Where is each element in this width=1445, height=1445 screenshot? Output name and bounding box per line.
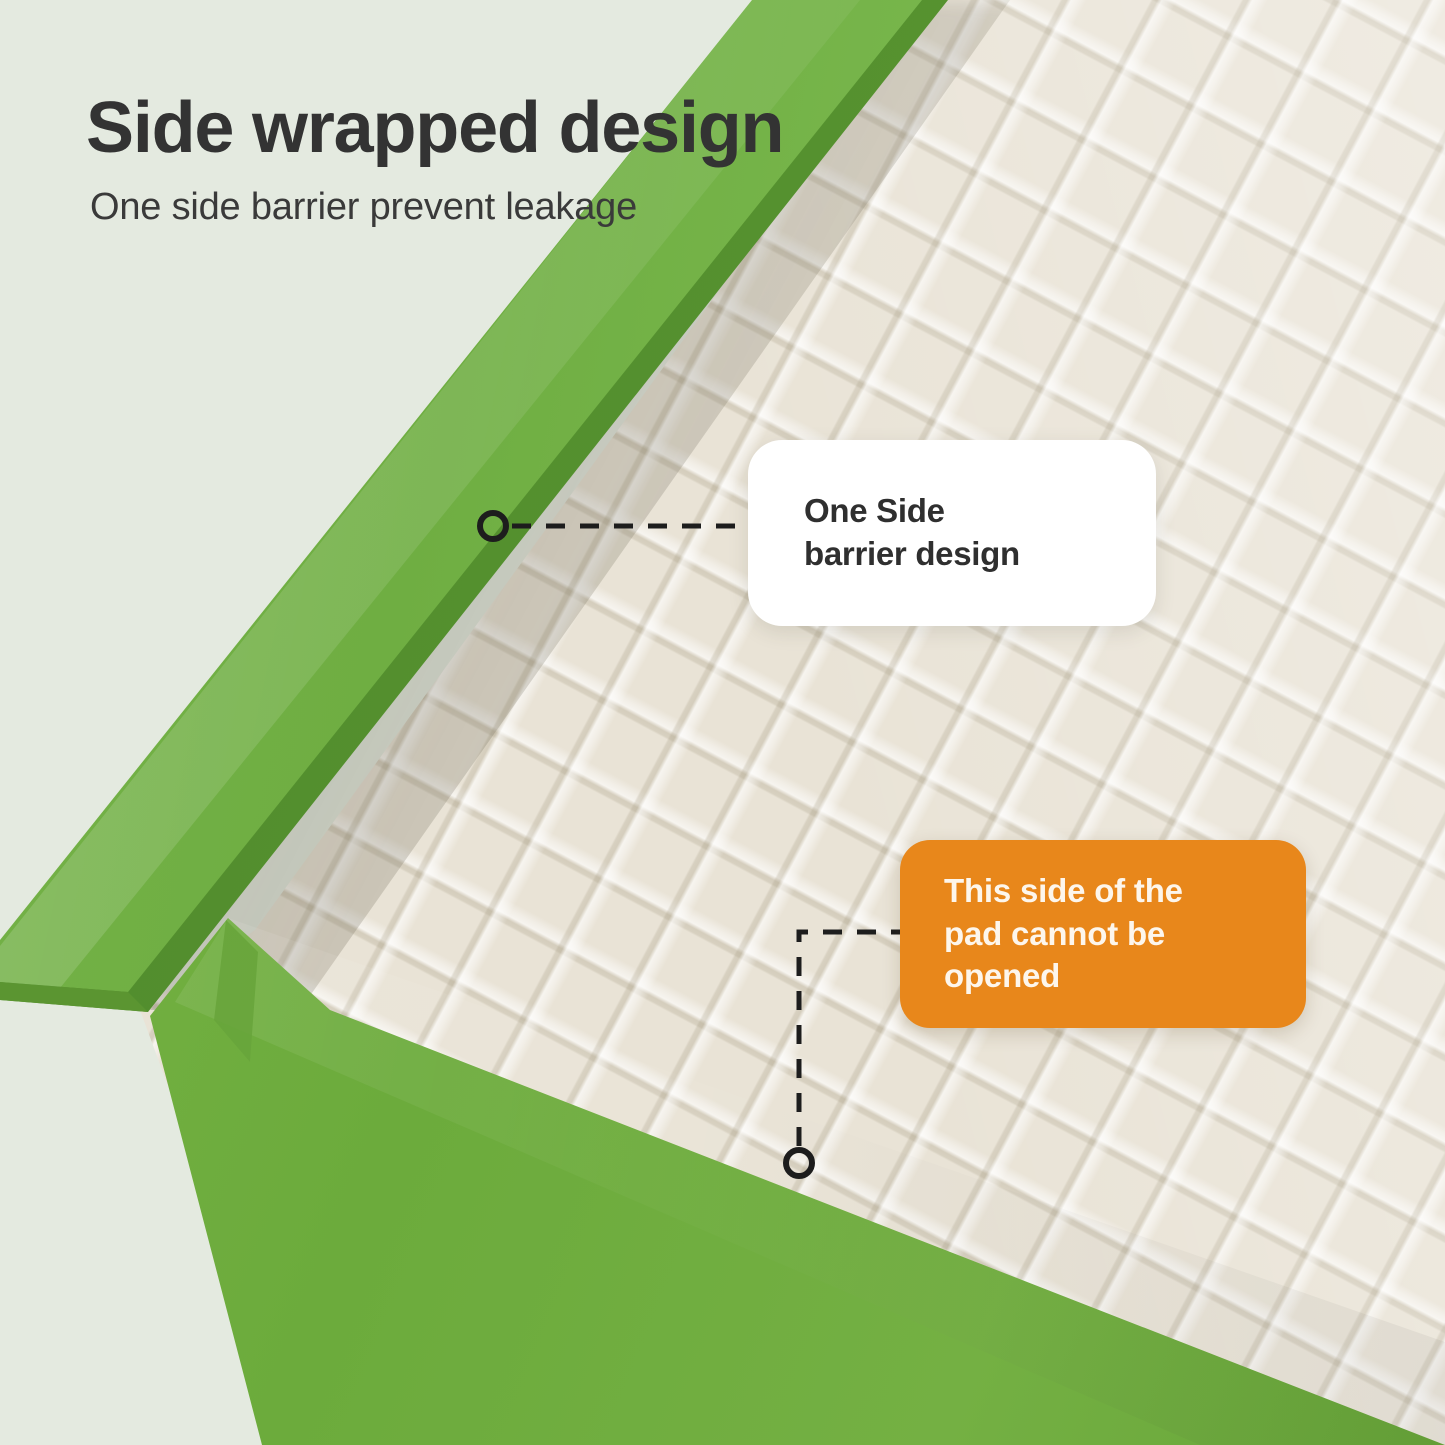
page-title: Side wrapped design — [86, 92, 1086, 164]
callout-side-cannot-be-opened[interactable]: This side of the pad cannot be opened — [900, 840, 1306, 1028]
callout-text: This side of the pad cannot be opened — [944, 870, 1306, 999]
infographic-canvas: Side wrapped design One side barrier pre… — [0, 0, 1445, 1445]
header-block: Side wrapped design One side barrier pre… — [86, 92, 1086, 229]
callout-text: One Side barrier design — [804, 490, 1156, 576]
callout-one-side-barrier-design[interactable]: One Side barrier design — [748, 440, 1156, 626]
page-subtitle: One side barrier prevent leakage — [90, 186, 1086, 229]
